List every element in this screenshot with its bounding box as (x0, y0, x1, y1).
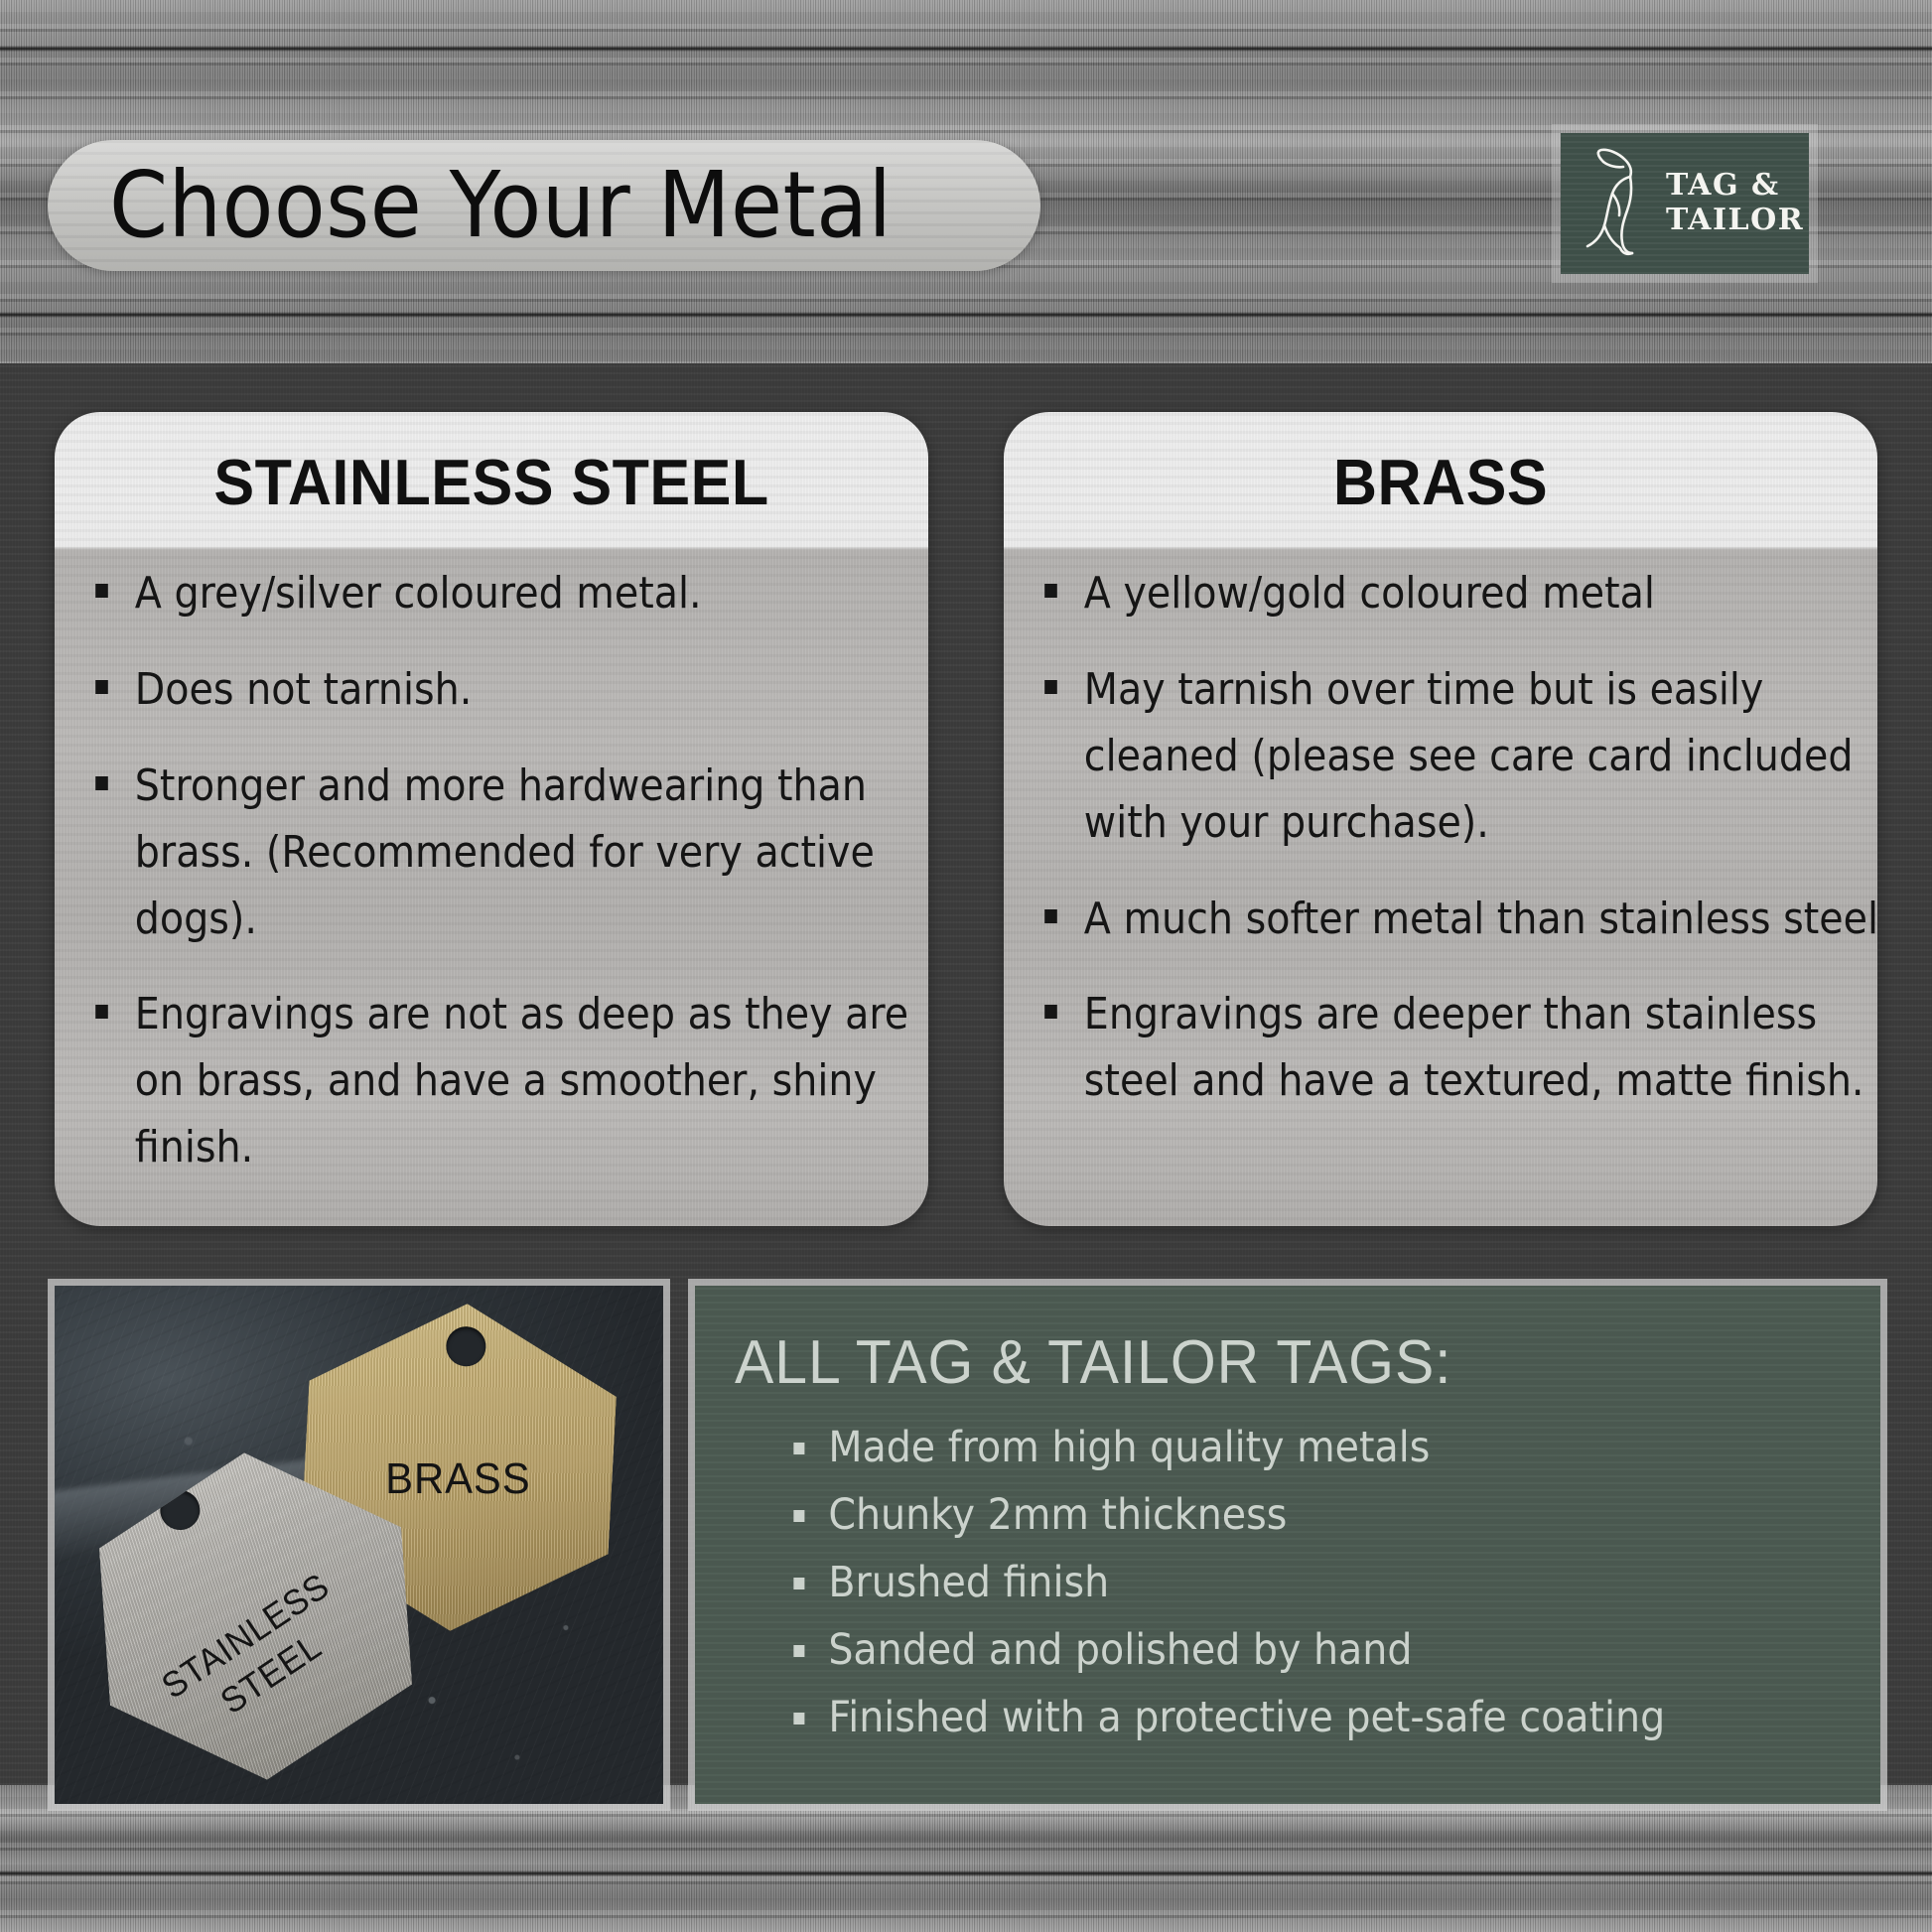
list-item-text: Stronger and more hardwearing than brass… (135, 760, 875, 944)
list-item-text: Chunky 2mm thickness (828, 1490, 1287, 1540)
bullet-square-icon (95, 584, 108, 598)
list-item: Chunky 2mm thickness (786, 1491, 1756, 1541)
list-item: Brushed finish (786, 1559, 1756, 1608)
bullet-square-icon (793, 1645, 804, 1657)
feature-list-brass: A yellow/gold coloured metal May tarnish… (1004, 561, 1877, 1145)
brand-wordmark-line1: TAG & (1666, 169, 1804, 204)
list-item: Does not tarnish. (70, 657, 928, 724)
list-item-text: Brushed finish (828, 1558, 1109, 1607)
page-title: Choose Your Metal (109, 160, 892, 251)
bullet-square-icon (95, 776, 108, 790)
list-item-text: Sanded and polished by hand (828, 1625, 1412, 1675)
bullet-square-icon (95, 1005, 108, 1019)
bullet-square-icon (1044, 680, 1057, 694)
list-item: May tarnish over time but is easily clea… (1020, 657, 1877, 857)
tag-hole-icon (446, 1325, 487, 1367)
metal-card-brass: BRASS A yellow/gold coloured metal May t… (1004, 412, 1877, 1226)
feature-list-stainless-steel: A grey/silver coloured metal. Does not t… (55, 561, 928, 1211)
list-item: Engravings are not as deep as they are o… (70, 982, 928, 1181)
bullet-square-icon (793, 1510, 804, 1522)
list-item-text: Engravings are not as deep as they are o… (135, 989, 908, 1173)
list-item-text: Does not tarnish. (135, 664, 473, 715)
bullet-square-icon (1044, 1005, 1057, 1019)
plank-seam-line (0, 312, 1932, 318)
list-item: A much softer metal than stainless steel… (1020, 887, 1877, 953)
bullet-square-icon (793, 1713, 804, 1725)
list-item: Finished with a protective pet-safe coat… (786, 1694, 1756, 1743)
all-tags-info-panel: ALL TAG & TAILOR TAGS: Made from high qu… (695, 1286, 1880, 1804)
bullet-square-icon (1044, 584, 1057, 598)
card-title-brass: BRASS (1030, 412, 1851, 551)
bullet-square-icon (95, 680, 108, 694)
bullet-square-icon (793, 1578, 804, 1589)
bullet-square-icon (793, 1443, 804, 1454)
list-item: Engravings are deeper than stainless ste… (1020, 982, 1877, 1115)
list-item-text: A yellow/gold coloured metal (1084, 568, 1655, 619)
list-item-text: A much softer metal than stainless steel… (1084, 894, 1877, 944)
list-item: A yellow/gold coloured metal (1020, 561, 1877, 627)
product-photo: BRASS STAINLESS STEEL (55, 1286, 663, 1804)
card-title-stainless-steel: STAINLESS STEEL (80, 412, 901, 551)
page-title-banner: Choose Your Metal (48, 140, 1040, 271)
brand-wordmark: TAG & TAILOR (1666, 169, 1804, 238)
list-item: Made from high quality metals (786, 1424, 1756, 1473)
list-item: Stronger and more hardwearing than brass… (70, 754, 928, 953)
list-item-text: May tarnish over time but is easily clea… (1084, 664, 1854, 848)
dog-silhouette-icon (1571, 144, 1662, 263)
list-item-text: Finished with a protective pet-safe coat… (828, 1693, 1665, 1742)
list-item: Sanded and polished by hand (786, 1626, 1756, 1676)
infographic-poster: Choose Your Metal TAG & TAILOR STAINLESS… (0, 0, 1932, 1932)
all-tags-feature-list: Made from high quality metals Chunky 2mm… (735, 1424, 1841, 1742)
plank-seam-line (0, 1870, 1932, 1876)
list-item-text: Made from high quality metals (828, 1423, 1430, 1472)
list-item-text: A grey/silver coloured metal. (135, 568, 702, 619)
brand-logo: TAG & TAILOR (1561, 133, 1809, 274)
metal-card-stainless-steel: STAINLESS STEEL A grey/silver coloured m… (55, 412, 928, 1226)
list-item: A grey/silver coloured metal. (70, 561, 928, 627)
brand-wordmark-line2: TAILOR (1666, 204, 1804, 238)
panel-title: ALL TAG & TAILOR TAGS: (735, 1327, 1785, 1398)
brass-tag-engraving: BRASS (312, 1454, 605, 1504)
plank-seam-line (0, 46, 1932, 52)
bullet-square-icon (1044, 909, 1057, 923)
list-item-text: Engravings are deeper than stainless ste… (1084, 989, 1864, 1106)
